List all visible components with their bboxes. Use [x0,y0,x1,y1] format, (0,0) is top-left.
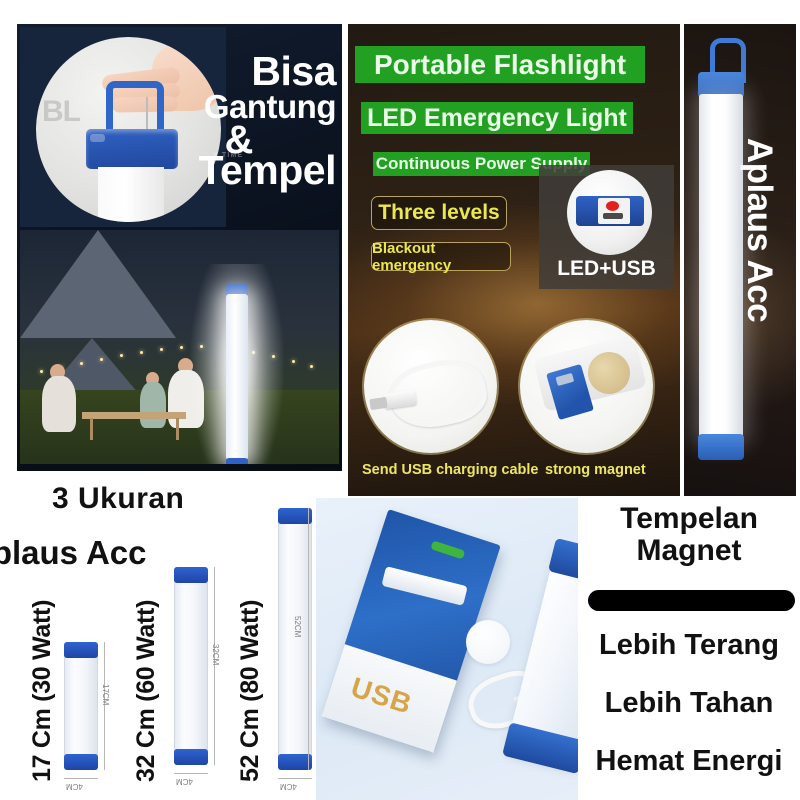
panel-retail-box: USB [316,498,578,800]
dimension-label-width: 4CM [66,782,83,791]
ytime-watermark: Y TIME [213,152,243,159]
camping-scene-photo [20,230,339,464]
brand-watermark-vertical: Aplaus Acc [739,115,779,345]
dimension-label-52cm: 52CM [293,616,302,637]
lamp-tube-body [98,167,164,222]
usb-port-icon [603,213,623,219]
dimension-line-vertical [104,642,105,770]
dimension-line-horizontal [64,778,98,779]
dimension-label-32cm: 32CM [211,644,220,665]
panel-hanging-feature: BL Bisa Gantung & Tempel Y TIME [17,24,342,471]
panel-features-banners: Portable Flashlight LED Emergency Light … [348,24,680,496]
feature-item-3: Hemat Energi [578,745,800,778]
person-child [140,382,166,428]
feature-heading-line-2: Magnet [578,536,800,567]
dimension-label-17cm: 17CM [101,684,110,705]
tent-shape [20,230,176,338]
lamp-bar-32cm [174,567,208,765]
caption-usb-cable: Send USB charging cable [362,462,538,478]
panel-hero-product: Aplaus Acc [684,24,796,496]
panel-feature-list: Tempelan Magnet Lebih Terang Lebih Tahan… [578,498,800,800]
lamp-cap-top [174,567,208,583]
magnet-disc-icon [466,620,510,664]
usb-cable-photo [364,320,497,453]
lamp-cap-bottom [226,458,248,464]
dimension-line-horizontal [174,773,208,774]
dimension-line-vertical [214,567,215,765]
lamp-cap-top [64,642,98,658]
lamp-tube [278,508,312,770]
lamp-cap-bottom [278,754,312,770]
headline-line-3: Tempel [166,151,336,190]
box-lamp-graphic [381,566,467,606]
size-label-52cm: 52 Cm (80 Watt) [236,600,265,782]
hanging-lamp-lit [226,282,248,464]
lamp-tube [174,567,208,765]
highlight-three-levels: Three levels [371,196,507,230]
led-usb-module-icon [567,170,652,255]
heading-divider-bar [588,590,795,611]
module-face-panel [598,198,630,224]
lamp-cap-top [278,508,312,524]
led-usb-inset: LED+USB [539,165,674,289]
dimension-line-horizontal [278,778,312,779]
lamp-product-photo [505,544,578,768]
lamp-cap-bottom [698,434,744,460]
power-button-icon [606,201,619,211]
box-product-title [370,607,463,632]
size-label-32cm: 32 Cm (60 Watt) [132,600,161,782]
sizes-heading: 3 Ukuran [52,482,184,516]
lamp-tube [64,642,98,770]
caption-strong-magnet: strong magnet [545,462,646,478]
hanging-headline-block: Bisa Gantung & Tempel [166,52,336,191]
camp-table [82,412,186,419]
person-adult-left [42,376,76,432]
product-collage: BL Bisa Gantung & Tempel Y TIME [0,0,800,800]
feature-heading-line-1: Tempelan [578,504,800,535]
dimension-label-width: 4CM [176,777,193,786]
lamp-cap-bottom [174,749,208,765]
lamp-end-cap [86,129,178,169]
lamp-tube [699,94,743,440]
feature-item-1: Lebih Terang [578,629,800,662]
photo-watermark: BL [42,95,80,129]
size-label-17cm: 17 Cm (30 Watt) [28,600,57,782]
dimension-label-width: 4CM [280,782,297,791]
dimension-line-vertical [308,508,309,770]
led-usb-label: LED+USB [539,257,674,281]
magnet-photo [520,320,653,453]
lamp-end-module [576,196,644,226]
banner-led-emergency-light: LED Emergency Light [361,102,633,134]
lamp-cap-bottom [64,754,98,770]
lamp-tube [226,294,248,460]
brand-watermark-box-panel: Aplaus Acc [0,534,147,572]
highlight-blackout-emergency: Blackout emergency [371,242,511,271]
lamp-bar-17cm [64,642,98,770]
hero-lamp-product [698,38,744,468]
banner-portable-flashlight: Portable Flashlight [355,46,645,83]
box-green-badge [430,540,465,559]
headline-line-1: Bisa [166,52,336,91]
feature-item-2: Lebih Tahan [578,687,800,720]
lamp-bar-52cm [278,508,312,770]
micro-usb-connector-icon [369,397,387,410]
